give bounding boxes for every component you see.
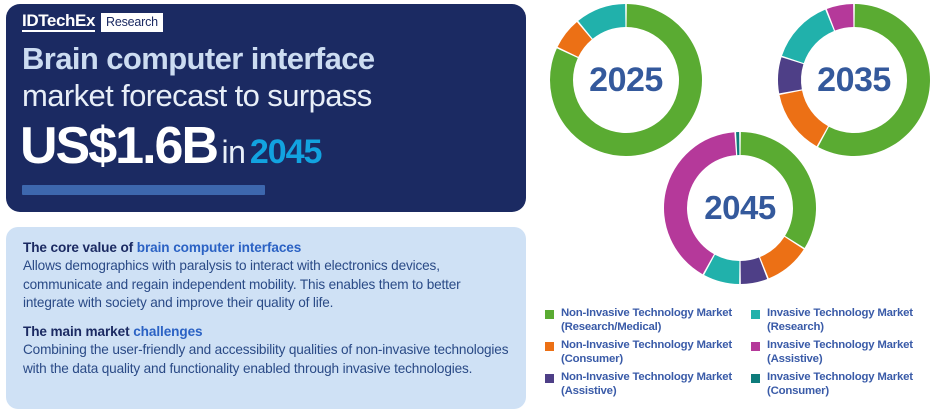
legend-item-label: Invasive Technology Market (Assistive) <box>767 339 941 366</box>
legend-item-label: Non-Invasive Technology Market (Assistiv… <box>561 371 741 398</box>
hero-headline-year: 2045 <box>250 133 322 171</box>
hero-accent-bar <box>22 185 265 195</box>
info-block-1-heading-highlight: brain computer interfaces <box>137 240 301 255</box>
legend-item-label: Invasive Technology Market (Consumer) <box>767 371 941 398</box>
legend-column-left: Non-Invasive Technology Market (Research… <box>545 307 741 404</box>
donut-chart-group: 2025 2035 2045 <box>530 0 941 300</box>
legend-swatch-icon <box>545 374 554 383</box>
donut-svg-2045 <box>662 130 818 286</box>
brand-logo: IDTechEx Research <box>22 12 163 32</box>
donut-segment <box>782 10 834 63</box>
legend-item-label: Invasive Technology Market (Research) <box>767 307 941 334</box>
hero-title-line-2: market forecast to surpass <box>22 78 372 114</box>
hero-card: IDTechEx Research Brain computer interfa… <box>6 4 526 212</box>
info-block-1-heading-plain: The core value of <box>23 240 137 255</box>
logo-research-badge: Research <box>101 13 163 32</box>
infographic-root: IDTechEx Research Brain computer interfa… <box>0 0 941 414</box>
info-block-1-heading: The core value of brain computer interfa… <box>23 239 301 256</box>
legend-item: Invasive Technology Market (Consumer) <box>751 371 941 398</box>
donut-segment <box>736 132 739 155</box>
hero-headline-connector: in <box>221 134 245 170</box>
legend-item: Non-Invasive Technology Market (Assistiv… <box>545 371 741 398</box>
hero-headline: US$1.6B in 2045 <box>20 117 321 188</box>
legend-swatch-icon <box>545 342 554 351</box>
legend-item: Non-Invasive Technology Market (Research… <box>545 307 741 334</box>
donut-chart-2045: 2045 <box>662 130 818 286</box>
hero-title-line-1: Brain computer interface <box>22 41 375 77</box>
legend-item: Invasive Technology Market (Assistive) <box>751 339 941 366</box>
donut-segment <box>664 132 736 274</box>
legend-swatch-icon <box>751 310 760 319</box>
legend-swatch-icon <box>545 310 554 319</box>
legend-item-label: Non-Invasive Technology Market (Research… <box>561 307 741 334</box>
chart-legend: Non-Invasive Technology Market (Research… <box>545 307 937 407</box>
info-block-2-body: Combining the user-friendly and accessib… <box>23 341 515 378</box>
legend-swatch-icon <box>751 342 760 351</box>
donut-segment <box>778 57 803 93</box>
legend-column-right: Invasive Technology Market (Research) In… <box>751 307 941 404</box>
logo-wordmark: IDTechEx <box>22 12 95 32</box>
info-block-2-heading: The main market challenges <box>23 323 202 340</box>
info-block-2-heading-plain: The main market <box>23 324 133 339</box>
legend-item: Invasive Technology Market (Research) <box>751 307 941 334</box>
info-card: The core value of brain computer interfa… <box>6 227 526 409</box>
info-block-2-heading-highlight: challenges <box>133 324 202 339</box>
hero-headline-value: US$1.6B <box>20 117 217 175</box>
donut-segment <box>741 132 816 248</box>
legend-item-label: Non-Invasive Technology Market (Consumer… <box>561 339 741 366</box>
info-block-1-body: Allows demographics with paralysis to in… <box>23 257 515 313</box>
legend-item: Non-Invasive Technology Market (Consumer… <box>545 339 741 366</box>
legend-swatch-icon <box>751 374 760 383</box>
